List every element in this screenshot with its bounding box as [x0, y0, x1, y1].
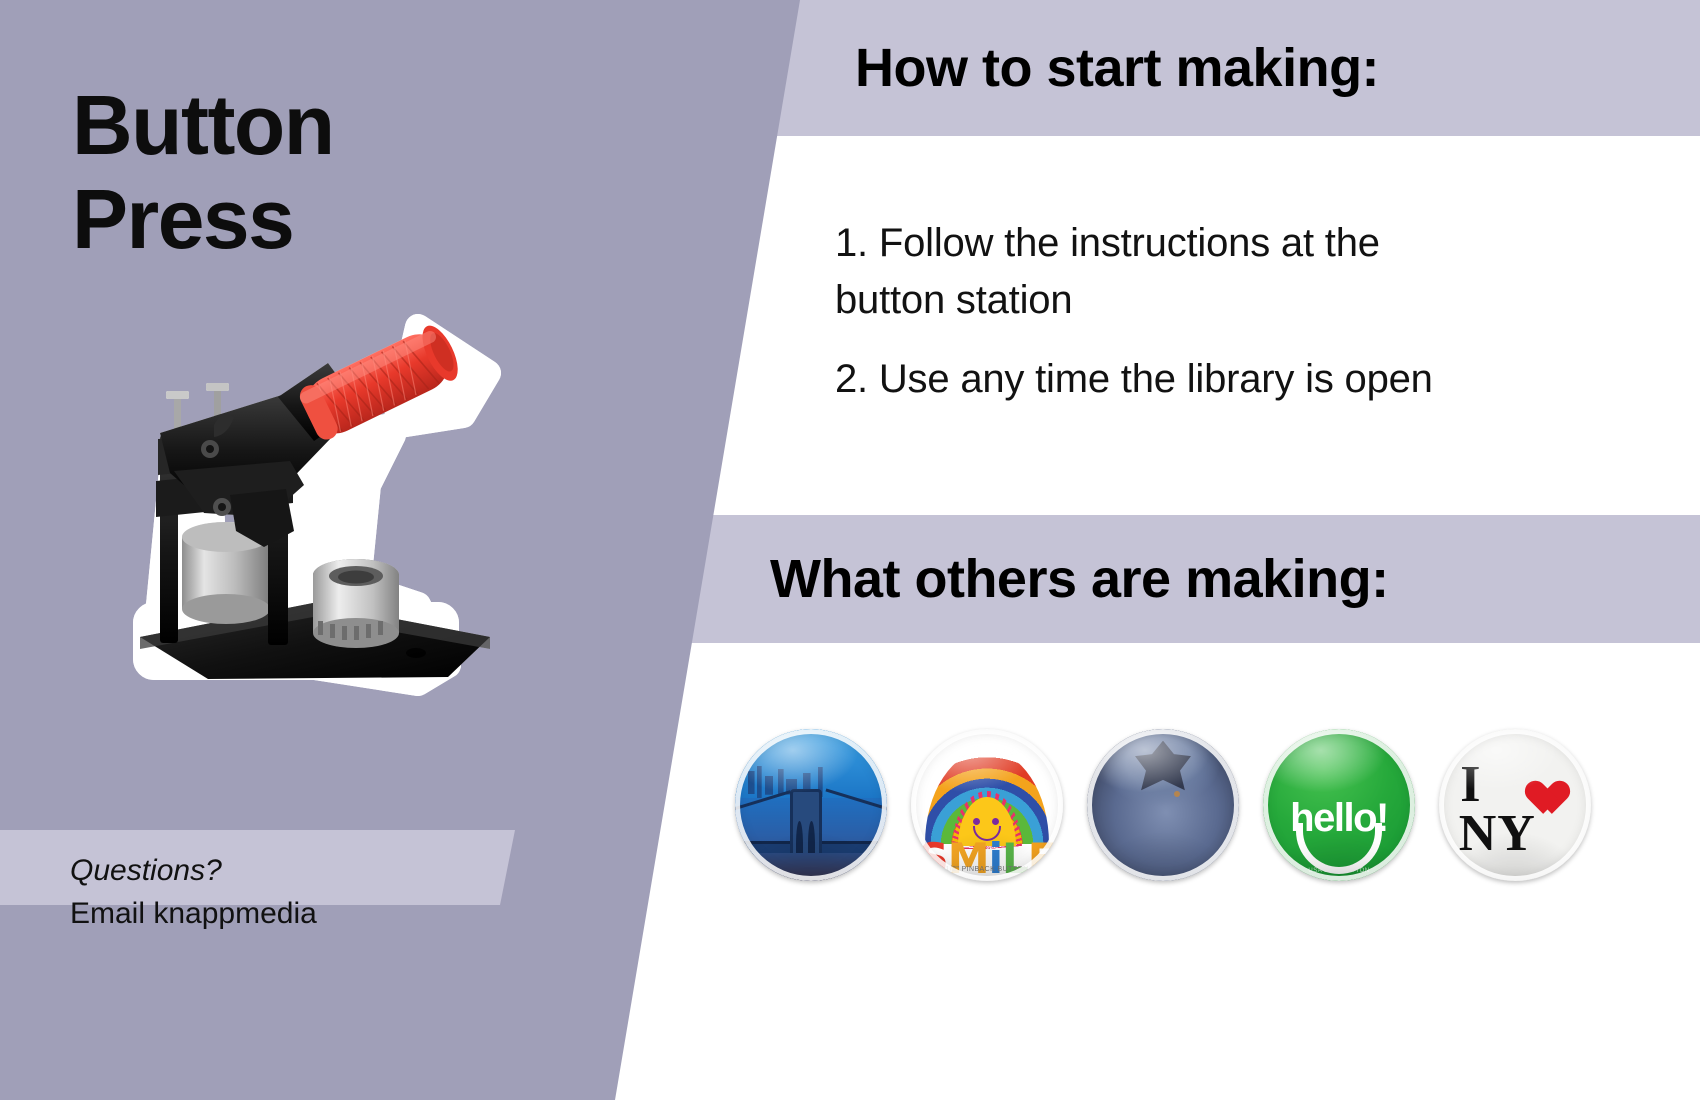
smile-rainbow-button: SMiLE 1/2" PINBACK BUTTON [911, 729, 1063, 881]
button-press-machine-image [118, 285, 518, 700]
smile-artwork: SMiLE 1/2" PINBACK BUTTON [911, 729, 1063, 881]
page-title: Button Press [72, 78, 334, 266]
blueberry-speck [1174, 791, 1180, 797]
questions-contact: Email knappmedia [70, 893, 317, 936]
brooklyn-bridge-button [735, 729, 887, 881]
smile-sub-text: 1/2" PINBACK BUTTON [911, 866, 1063, 873]
hello-button: hello! USA 1 1/4 BUTTON [1263, 729, 1415, 881]
badge-gallery: SMiLE 1/2" PINBACK BUTTON hello! USA 1 1… [735, 722, 1565, 887]
smile-letter-2: M [948, 834, 989, 881]
hello-smile-arc [1296, 823, 1381, 875]
heading-what-others-are-making: What others are making: [770, 548, 1389, 610]
smile-letter-4: L [1002, 834, 1028, 881]
i-love-ny-button: I NY [1439, 729, 1591, 881]
hello-sub-text: USA 1 1/4 BUTTON [1263, 868, 1415, 874]
bridge-artwork [735, 729, 887, 881]
blueberry-artwork [1087, 729, 1239, 881]
smile-letter-1: S [919, 834, 948, 881]
slide-canvas: How to start making: 1. Follow the instr… [0, 0, 1700, 1100]
bridge-water [735, 853, 887, 880]
instruction-item-1-line-2: button station [835, 272, 1595, 329]
sun-eye-right [992, 818, 999, 825]
questions-label: Questions? [70, 850, 317, 893]
smile-letter-3: i [989, 834, 1002, 881]
heart-icon [1518, 767, 1558, 803]
instruction-item-2: 2. Use any time the library is open [835, 351, 1595, 408]
blueberry-calyx [1133, 741, 1194, 793]
hello-artwork: hello! USA 1 1/4 BUTTON [1263, 729, 1415, 881]
instruction-item-2-line-1: 2. Use any time the library is open [835, 351, 1595, 408]
ny-letter-i: I [1460, 759, 1480, 811]
i-love-ny-artwork: I NY [1439, 729, 1591, 881]
instructions-list: 1. Follow the instructions at the button… [835, 215, 1595, 429]
instruction-item-1-line-1: 1. Follow the instructions at the [835, 215, 1595, 272]
smile-letter-5: E [1028, 834, 1056, 881]
blueberry-button [1087, 729, 1239, 881]
press-die-right [313, 559, 399, 648]
heading-how-to-start: How to start making: [855, 37, 1379, 99]
ny-letters-ny: NY [1459, 808, 1536, 860]
questions-text: Questions? Email knappmedia [70, 850, 317, 935]
smile-wordmark: SMiLE [911, 838, 1063, 880]
instruction-item-1: 1. Follow the instructions at the button… [835, 215, 1595, 329]
